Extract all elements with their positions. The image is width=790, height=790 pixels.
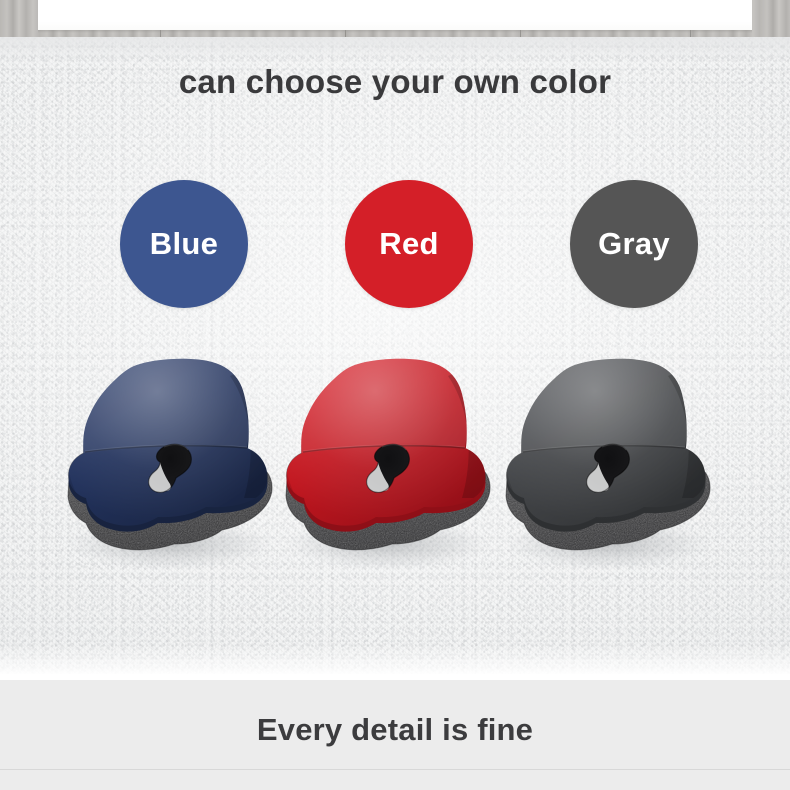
carpet-top-fade [0,37,790,63]
color-swatch-gray[interactable]: Gray [570,180,698,308]
product-detail-panel: can choose your own color Blue Red Gray [0,0,790,790]
color-swatch-group: Blue Red Gray [0,180,790,310]
seat-cushion-gray[interactable] [482,348,728,588]
product-image-group [0,348,790,598]
footer-band: Every detail is fine [0,680,790,790]
color-swatch-label: Gray [598,228,670,259]
color-swatch-red[interactable]: Red [345,180,473,308]
seat-cushion-red[interactable] [262,348,508,588]
panel-drop-shadow [38,30,752,33]
footer-heading: Every detail is fine [0,680,790,780]
page-title: can choose your own color [0,63,790,101]
white-panel-sliver [38,0,752,30]
seat-cushion-blue[interactable] [44,348,290,588]
carpet-bottom-fade [0,644,790,674]
color-swatch-blue[interactable]: Blue [120,180,248,308]
footer-divider [0,769,790,770]
top-image-sliver [0,0,790,37]
color-swatch-label: Red [379,228,438,259]
color-swatch-label: Blue [150,228,218,259]
